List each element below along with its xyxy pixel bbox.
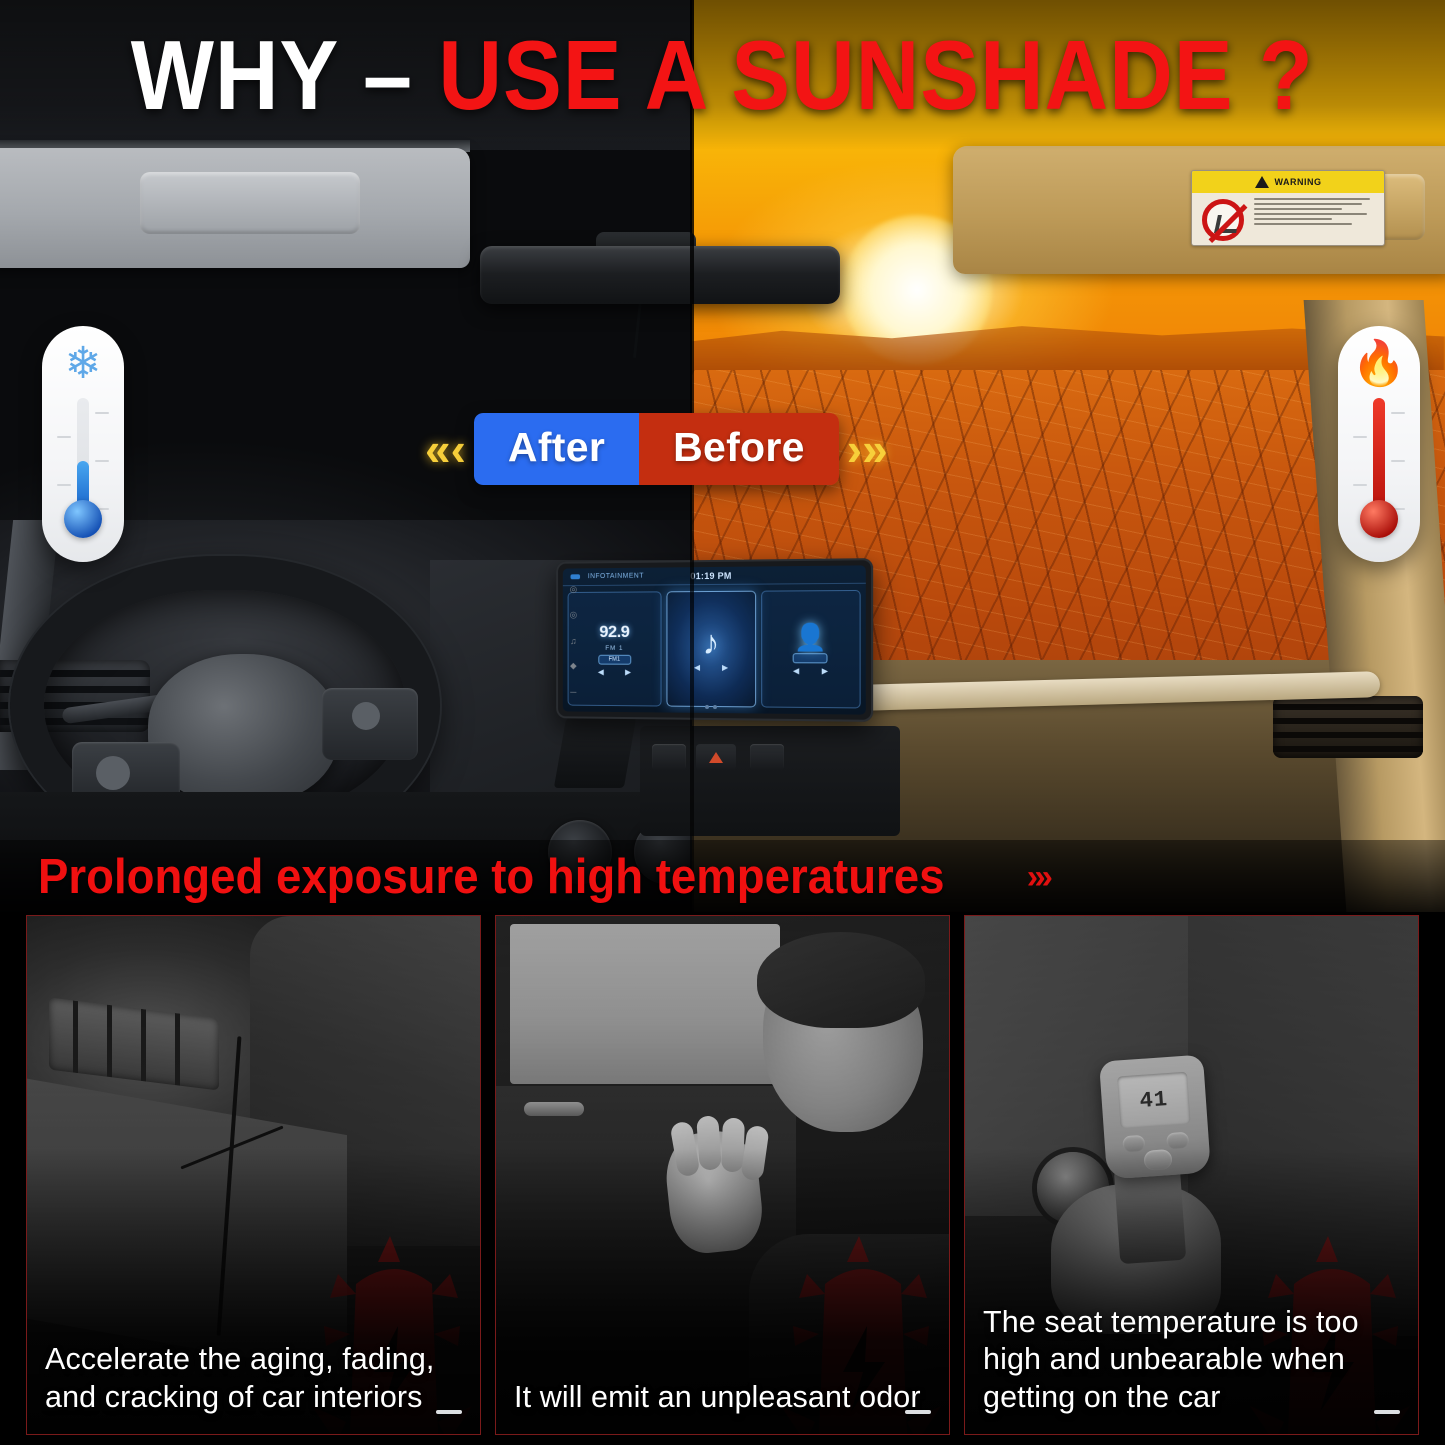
warning-label-body <box>1192 193 1384 246</box>
thermometer-bulb-hot <box>1360 500 1398 538</box>
title-use-a-sunshade: USE A SUNSHADE ? <box>439 20 1314 130</box>
thermometer-bulb-cold <box>64 500 102 538</box>
infotainment-brand: INFOTAINMENT <box>588 573 644 580</box>
media-next-icon[interactable]: ▶ <box>722 663 728 672</box>
infotainment-screen[interactable]: INFOTAINMENT 01:19 PM 92.9 FM 1 FM1 ◀ ▶ <box>563 565 866 714</box>
thermometer-mercury-hot <box>1373 398 1385 514</box>
radio-preset-button[interactable]: FM1 <box>598 654 631 664</box>
sun-visor-left <box>0 148 470 268</box>
thermometer-tube-cold <box>77 398 89 514</box>
infotainment-side-buttons[interactable]: ◎ ◎ ♫ ◆ ─ <box>563 568 584 711</box>
sunshade-promo-image: WARNING <box>0 0 1445 1445</box>
back-icon[interactable]: ◆ <box>570 661 577 672</box>
infotainment-status-bar: INFOTAINMENT 01:19 PM <box>563 565 866 586</box>
profile-prev-icon[interactable]: ◀ <box>793 666 799 675</box>
hazard-triangle-icon <box>709 752 723 763</box>
seek-next-icon[interactable]: ▶ <box>625 667 631 676</box>
console-button-left[interactable] <box>652 744 686 770</box>
warning-label-header: WARNING <box>1192 171 1384 193</box>
thermometer-hot: 🔥 <box>1338 326 1420 562</box>
panel1-caption: Accelerate the aging, fading, and cracki… <box>27 1325 480 1434</box>
head-unit-mount <box>554 718 636 788</box>
warning-label-text-lines <box>1254 193 1384 246</box>
power-icon[interactable]: ◎ <box>570 584 578 595</box>
air-vent-right <box>1273 696 1423 758</box>
rearview-mirror <box>480 246 840 304</box>
page-title-bar: WHY – USE A SUNSHADE ? <box>0 0 1445 150</box>
profile-action-button[interactable] <box>793 653 828 663</box>
media-prev-icon[interactable]: ◀ <box>694 663 700 672</box>
profile-nav-controls[interactable]: ◀ ▶ <box>793 666 828 675</box>
sun-visor-right: WARNING <box>953 146 1445 274</box>
snowflake-icon: ❄ <box>42 342 124 386</box>
steering-button-dpad <box>96 756 130 790</box>
panel1-underline <box>436 1410 462 1414</box>
photo2-shade <box>496 916 949 1434</box>
warning-heading: WARNING <box>1275 177 1322 187</box>
after-before-comparison-badge: «‹ After Before ›» <box>425 413 888 485</box>
panel3-underline <box>1374 1410 1400 1414</box>
home-icon[interactable]: ◎ <box>570 610 578 621</box>
panel-unpleasant-odor: It will emit an unpleasant odor <box>495 915 950 1435</box>
volume-icon[interactable]: ♫ <box>570 636 576 646</box>
steering-button-round <box>352 702 380 730</box>
infotainment-clock: 01:19 PM <box>690 570 731 580</box>
airbag-warning-label: WARNING <box>1191 170 1385 246</box>
profile-tile[interactable]: 👤 ◀ ▶ <box>761 590 861 709</box>
tagline-text: Prolonged exposure to high temperatures <box>38 853 944 902</box>
seek-prev-icon[interactable]: ◀ <box>598 667 604 676</box>
after-before-pill: After Before <box>474 413 839 485</box>
chevron-left-icon: «‹ <box>425 426 466 472</box>
page-title: WHY – USE A SUNSHADE ? <box>131 26 1314 124</box>
title-dash: – <box>363 20 413 130</box>
music-note-icon: ♪ <box>703 626 720 660</box>
radio-frequency: 92.9 <box>599 622 629 642</box>
media-transport-controls[interactable]: ◀ ▶ <box>694 663 728 672</box>
before-label: Before <box>639 413 839 485</box>
radio-seek-controls[interactable]: ◀ ▶ <box>598 667 631 676</box>
profile-next-icon[interactable]: ▶ <box>822 666 828 675</box>
menu-icon[interactable]: ─ <box>570 687 576 697</box>
thermometer-cold: ❄ <box>42 326 124 562</box>
flame-icon: 🔥 <box>1338 342 1420 386</box>
thermometer-tube-hot <box>1373 398 1385 514</box>
panel3-caption: The seat temperature is too high and unb… <box>965 1288 1418 1435</box>
tagline-band: Prolonged exposure to high temperatures … <box>0 840 1445 914</box>
title-why: WHY <box>131 20 338 130</box>
page-dots <box>705 705 717 709</box>
media-tile[interactable]: ♪ ◀ ▶ <box>667 591 756 708</box>
tagline-chevrons-icon: »› <box>1027 858 1049 897</box>
consequence-panels: Accelerate the aging, fading, and cracki… <box>0 915 1445 1445</box>
person-icon: 👤 <box>794 623 827 649</box>
panel2-caption: It will emit an unpleasant odor <box>496 1363 949 1435</box>
chevron-right-icon: ›» <box>847 426 888 472</box>
no-child-seat-icon <box>1192 193 1254 246</box>
hazard-light-button[interactable] <box>696 744 736 770</box>
infotainment-tiles: 92.9 FM 1 FM1 ◀ ▶ ♪ ◀ ▶ <box>563 584 866 715</box>
center-console <box>640 726 900 836</box>
infotainment-head-unit[interactable]: INFOTAINMENT 01:19 PM 92.9 FM 1 FM1 ◀ ▶ <box>556 558 873 722</box>
warning-triangle-icon <box>1255 176 1269 188</box>
panel2-underline <box>905 1410 931 1414</box>
radio-band: FM 1 <box>605 644 623 651</box>
panel-seat-temperature: 41 <box>964 915 1419 1435</box>
panel-cracked-interior: Accelerate the aging, fading, and cracki… <box>26 915 481 1435</box>
after-label: After <box>474 413 639 485</box>
console-button-right[interactable] <box>750 744 784 770</box>
